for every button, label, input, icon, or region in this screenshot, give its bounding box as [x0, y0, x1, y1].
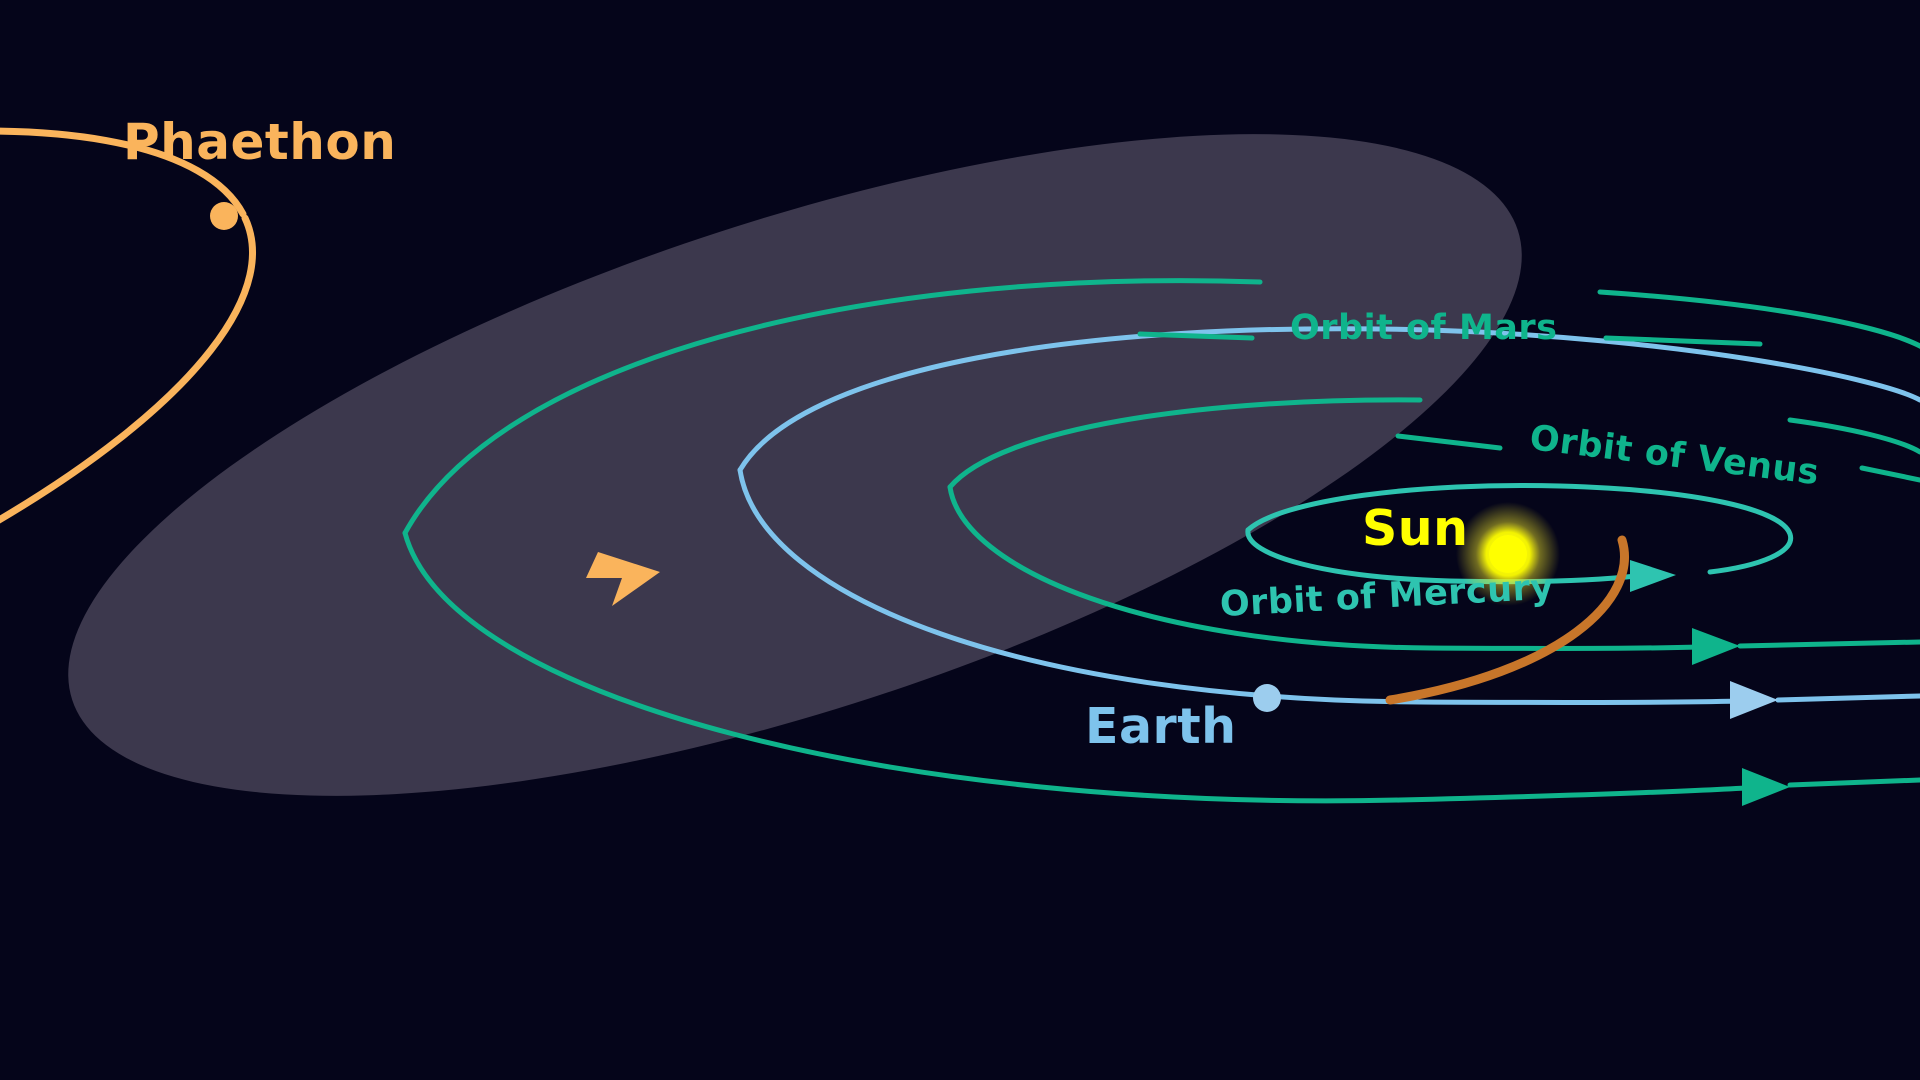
mars-orbit-arc-tail	[1790, 780, 1920, 785]
venus-orbit-arc-tail	[1740, 642, 1920, 646]
sun-disc	[1489, 535, 1527, 573]
venus-orbit-arc-back-right	[1790, 420, 1920, 452]
venus-label-leader-right	[1862, 468, 1920, 480]
phaethon-label: Phaethon	[123, 113, 396, 171]
earth-orbit-arc-tail	[1778, 696, 1920, 700]
venus-orbit-direction-arrow	[1692, 628, 1740, 665]
phaethon-body	[210, 202, 238, 230]
orbit-of-mars-label: Orbit of Mars	[1290, 308, 1557, 348]
mercury-orbit-direction-arrow	[1630, 560, 1676, 592]
mars-orbit-direction-arrow	[1742, 768, 1790, 806]
earth-body	[1253, 684, 1281, 712]
orbit-diagram-canvas: Phaethon Sun Earth Orbit of Mars Orbit o…	[0, 0, 1920, 1080]
earth-orbit-direction-arrow	[1730, 681, 1778, 719]
mercury-orbit-arc-back-right	[1560, 486, 1791, 572]
sun-label: Sun	[1362, 500, 1469, 557]
venus-label-leader-left	[1398, 436, 1500, 448]
earth-label: Earth	[1085, 698, 1237, 755]
